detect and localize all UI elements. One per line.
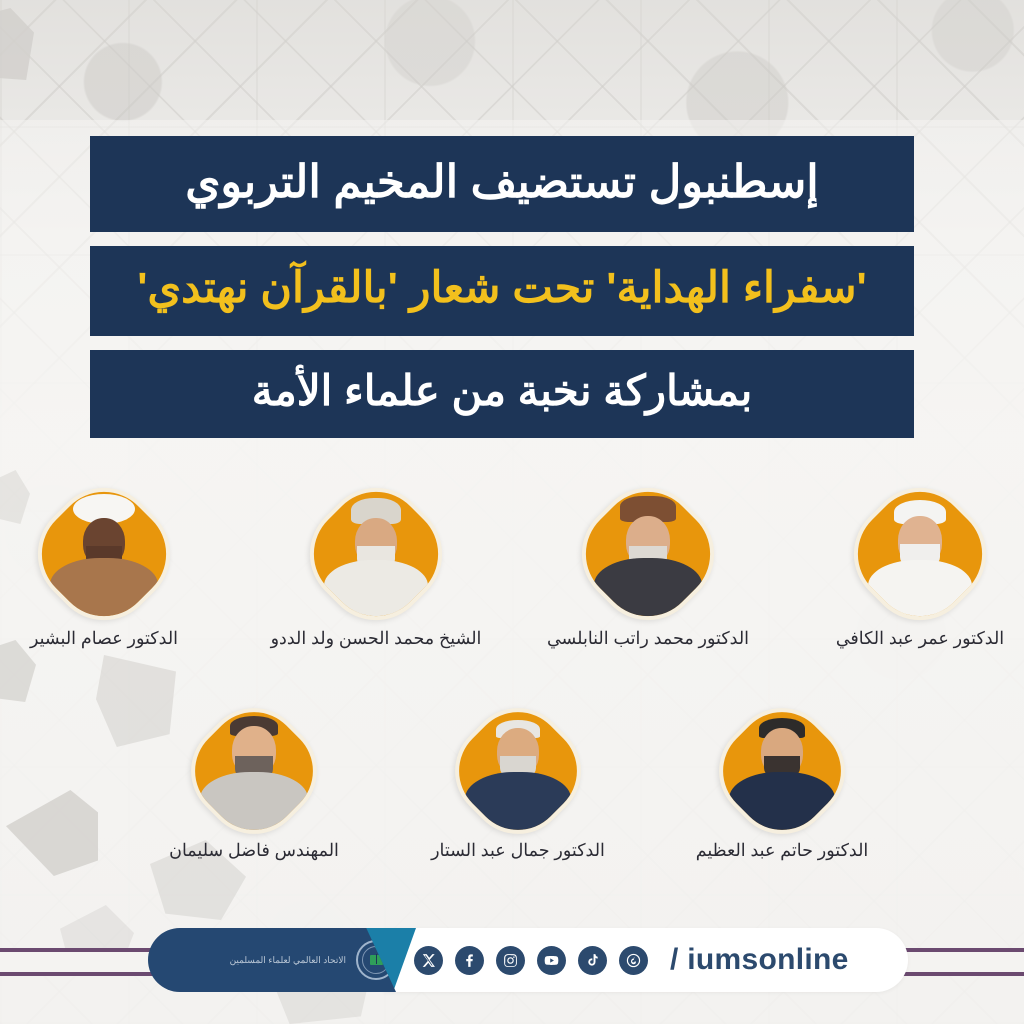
portrait-issam-al-bashir: [42, 484, 166, 616]
portrait-inner: [586, 492, 710, 616]
portrait-inner: [723, 712, 841, 830]
footer-brand: الاتحاد العالمي لعلماء المسلمين: [148, 928, 396, 992]
scholar-name: الدكتور حاتم عبد العظيم: [696, 840, 869, 861]
footer-social-pill: / iumsonline: [384, 928, 908, 992]
portrait-frame: [435, 688, 602, 855]
portrait-inner: [314, 492, 438, 616]
portrait-omar-abdel-kafi: [858, 484, 982, 616]
portrait-inner: [195, 712, 313, 830]
scholar-card: الدكتور محمد راتب النابلسي: [558, 492, 738, 649]
headline-line-1: إسطنبول تستضيف المخيم التربوي: [90, 136, 914, 232]
scholar-name: الدكتور محمد راتب النابلسي: [547, 628, 749, 649]
headline-block: إسطنبول تستضيف المخيم التربوي 'سفراء اله…: [90, 136, 914, 452]
scholar-card: المهندس فاضل سليمان: [148, 712, 360, 861]
portrait-frame: [288, 466, 463, 641]
portrait-inner: [42, 492, 166, 616]
social-handle[interactable]: / iumsonline: [670, 943, 849, 977]
portrait-frame: [699, 688, 866, 855]
portrait-gamal-abdelsattar: [459, 698, 577, 830]
portrait-frame: [16, 466, 191, 641]
youtube-icon[interactable]: [537, 946, 566, 975]
facebook-icon[interactable]: [455, 946, 484, 975]
scholars-row-1: الدكتور عمر عبد الكافي الدكتور محمد راتب…: [0, 492, 1024, 649]
scholar-card: الدكتور حاتم عبد العظيم: [676, 712, 888, 861]
portrait-inner: [858, 492, 982, 616]
x-twitter-icon[interactable]: [414, 946, 443, 975]
scholar-name: الدكتور عمر عبد الكافي: [836, 628, 1004, 649]
scholar-card: الدكتور جمال عبد الستار: [412, 712, 624, 861]
portrait-frame: [832, 466, 1007, 641]
tiktok-icon[interactable]: [578, 946, 607, 975]
scholar-name: الدكتور جمال عبد الستار: [431, 840, 605, 861]
headline-line-3: بمشاركة نخبة من علماء الأمة: [90, 350, 914, 438]
portrait-ould-dedew: [314, 484, 438, 616]
instagram-icon[interactable]: [496, 946, 525, 975]
scholar-name: الشيخ محمد الحسن ولد الددو: [271, 628, 482, 649]
scholars-row-2: الدكتور حاتم عبد العظيم الدكتور جمال عبد…: [148, 712, 888, 861]
portrait-frame: [171, 688, 338, 855]
threads-icon[interactable]: [619, 946, 648, 975]
scholar-card: الدكتور عصام البشير: [14, 492, 194, 649]
portrait-frame: [560, 466, 735, 641]
organization-name: الاتحاد العالمي لعلماء المسلمين: [230, 955, 346, 966]
scholar-name: المهندس فاضل سليمان: [169, 840, 339, 861]
footer-bar: الاتحاد العالمي لعلماء المسلمين / iums: [148, 928, 908, 992]
scholar-card: الشيخ محمد الحسن ولد الددو: [286, 492, 466, 649]
portrait-ratib-nabulsi: [586, 484, 710, 616]
portrait-inner: [459, 712, 577, 830]
headline-line-2: 'سفراء الهداية' تحت شعار 'بالقرآن نهتدي': [90, 246, 914, 336]
scholar-card: الدكتور عمر عبد الكافي: [830, 492, 1010, 649]
poster-canvas: إسطنبول تستضيف المخيم التربوي 'سفراء اله…: [0, 0, 1024, 1024]
scholar-name: الدكتور عصام البشير: [30, 628, 178, 649]
portrait-fadel-soliman: [195, 698, 313, 830]
portrait-hatem-abdelazim: [723, 698, 841, 830]
